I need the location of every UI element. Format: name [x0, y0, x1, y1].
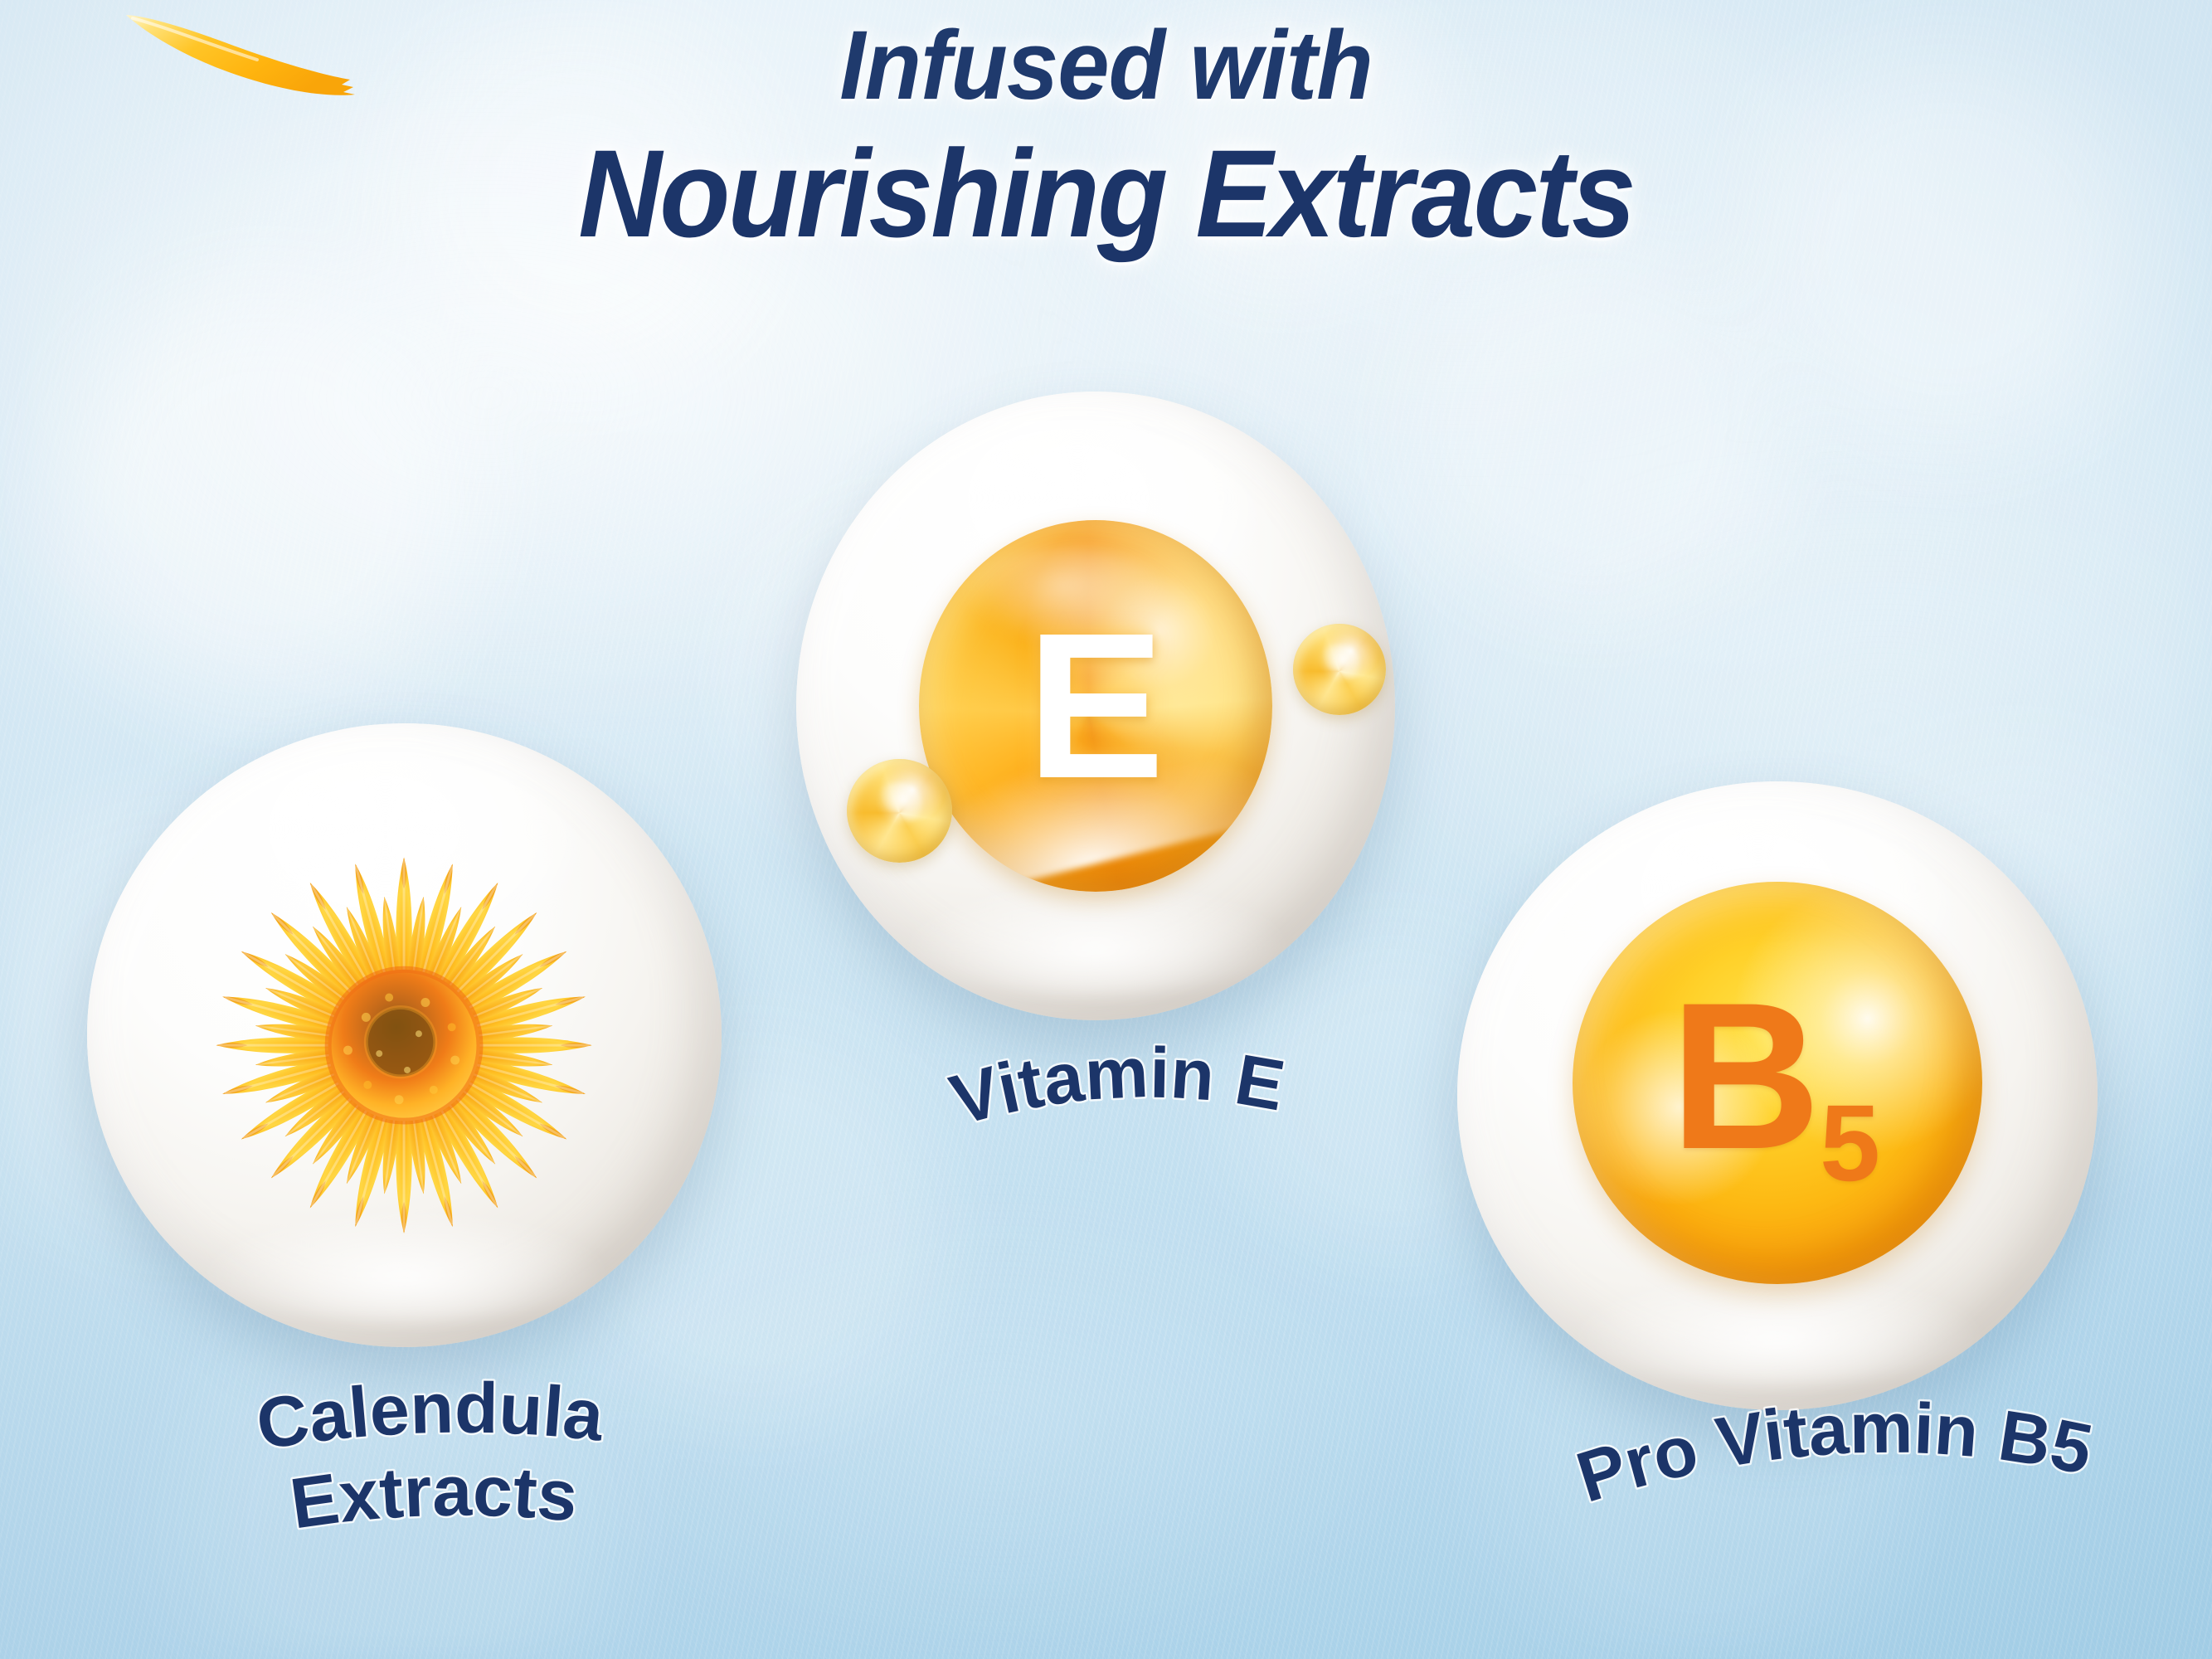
promo-banner: Infused with Nourishing Extracts [0, 0, 2212, 1659]
vitamin-b5-capsule-icon: B5 [1573, 882, 1982, 1284]
svg-text:Vitamin E: Vitamin E [942, 1033, 1290, 1141]
vitamin-e-capsule-icon: E [919, 520, 1272, 891]
vitamin-b5-symbol-subscript: 5 [1820, 1082, 1880, 1204]
caption-vitamin-e: Vitamin E [904, 1041, 1335, 1190]
caption-calendula-line-1: Calendula [251, 1369, 608, 1466]
vitamin-b5-symbol: B5 [1670, 972, 1879, 1181]
ingredient-bubble-pro-vitamin-b5[interactable]: B5 [1457, 781, 2098, 1410]
caption-pro-vitamin-b5: Pro Vitamin B5 [1510, 1352, 2156, 1543]
svg-text:Extracts: Extracts [285, 1452, 581, 1545]
caption-pro-vitamin-b5-text: Pro Vitamin B5 [1568, 1389, 2098, 1518]
headline-block: Infused with Nourishing Extracts [0, 17, 2212, 255]
svg-text:Calendula: Calendula [251, 1369, 608, 1466]
caption-calendula: Calendula Extracts [124, 1360, 738, 1568]
vitamin-b5-symbol-letter: B [1670, 960, 1818, 1193]
caption-vitamin-e-text: Vitamin E [942, 1033, 1290, 1141]
headline-line-1: Infused with [56, 17, 2157, 114]
ingredient-bubble-calendula[interactable] [87, 723, 722, 1347]
svg-text:Pro Vitamin B5: Pro Vitamin B5 [1568, 1389, 2098, 1518]
ingredient-bubble-vitamin-e[interactable]: E [796, 392, 1395, 1020]
oil-droplet-icon-left [847, 759, 951, 863]
headline-line-2: Nourishing Extracts [77, 131, 2134, 255]
caption-calendula-line-2: Extracts [285, 1452, 581, 1545]
calendula-flower-icon [87, 723, 722, 1347]
oil-droplet-icon-right [1293, 624, 1386, 715]
vitamin-e-symbol: E [919, 520, 1272, 891]
